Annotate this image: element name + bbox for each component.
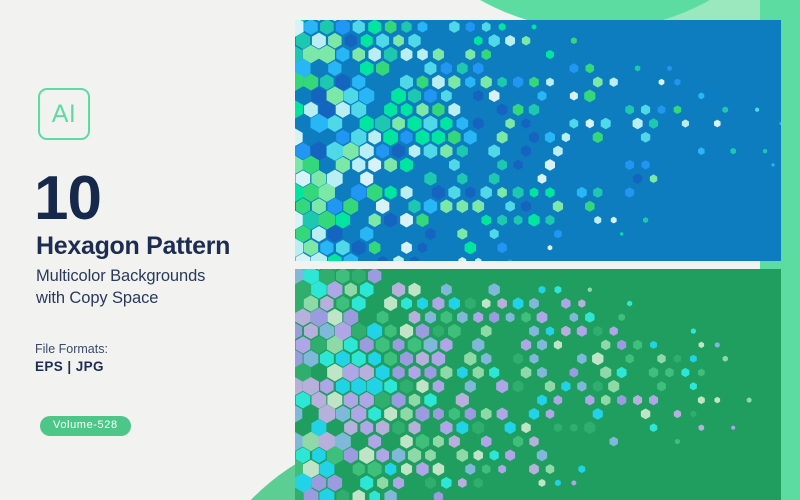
volume-badge: Volume-528 [40,416,131,436]
item-count: 10 [34,168,101,230]
info-column: AI 10 Hexagon Pattern Multicolor Backgro… [0,0,295,500]
file-formats-label: File Formats: [35,343,108,356]
poster-canvas: AI 10 Hexagon Pattern Multicolor Backgro… [0,0,800,500]
ai-badge-label: AI [52,102,77,127]
green-hexagon-panel [295,269,781,500]
file-formats-value: EPS | JPG [35,360,104,374]
page-subtitle: Multicolor Backgrounds with Copy Space [36,266,205,310]
blue-hexagon-panel [295,20,781,261]
ai-format-badge: AI [38,88,90,140]
page-title: Hexagon Pattern [36,234,230,259]
